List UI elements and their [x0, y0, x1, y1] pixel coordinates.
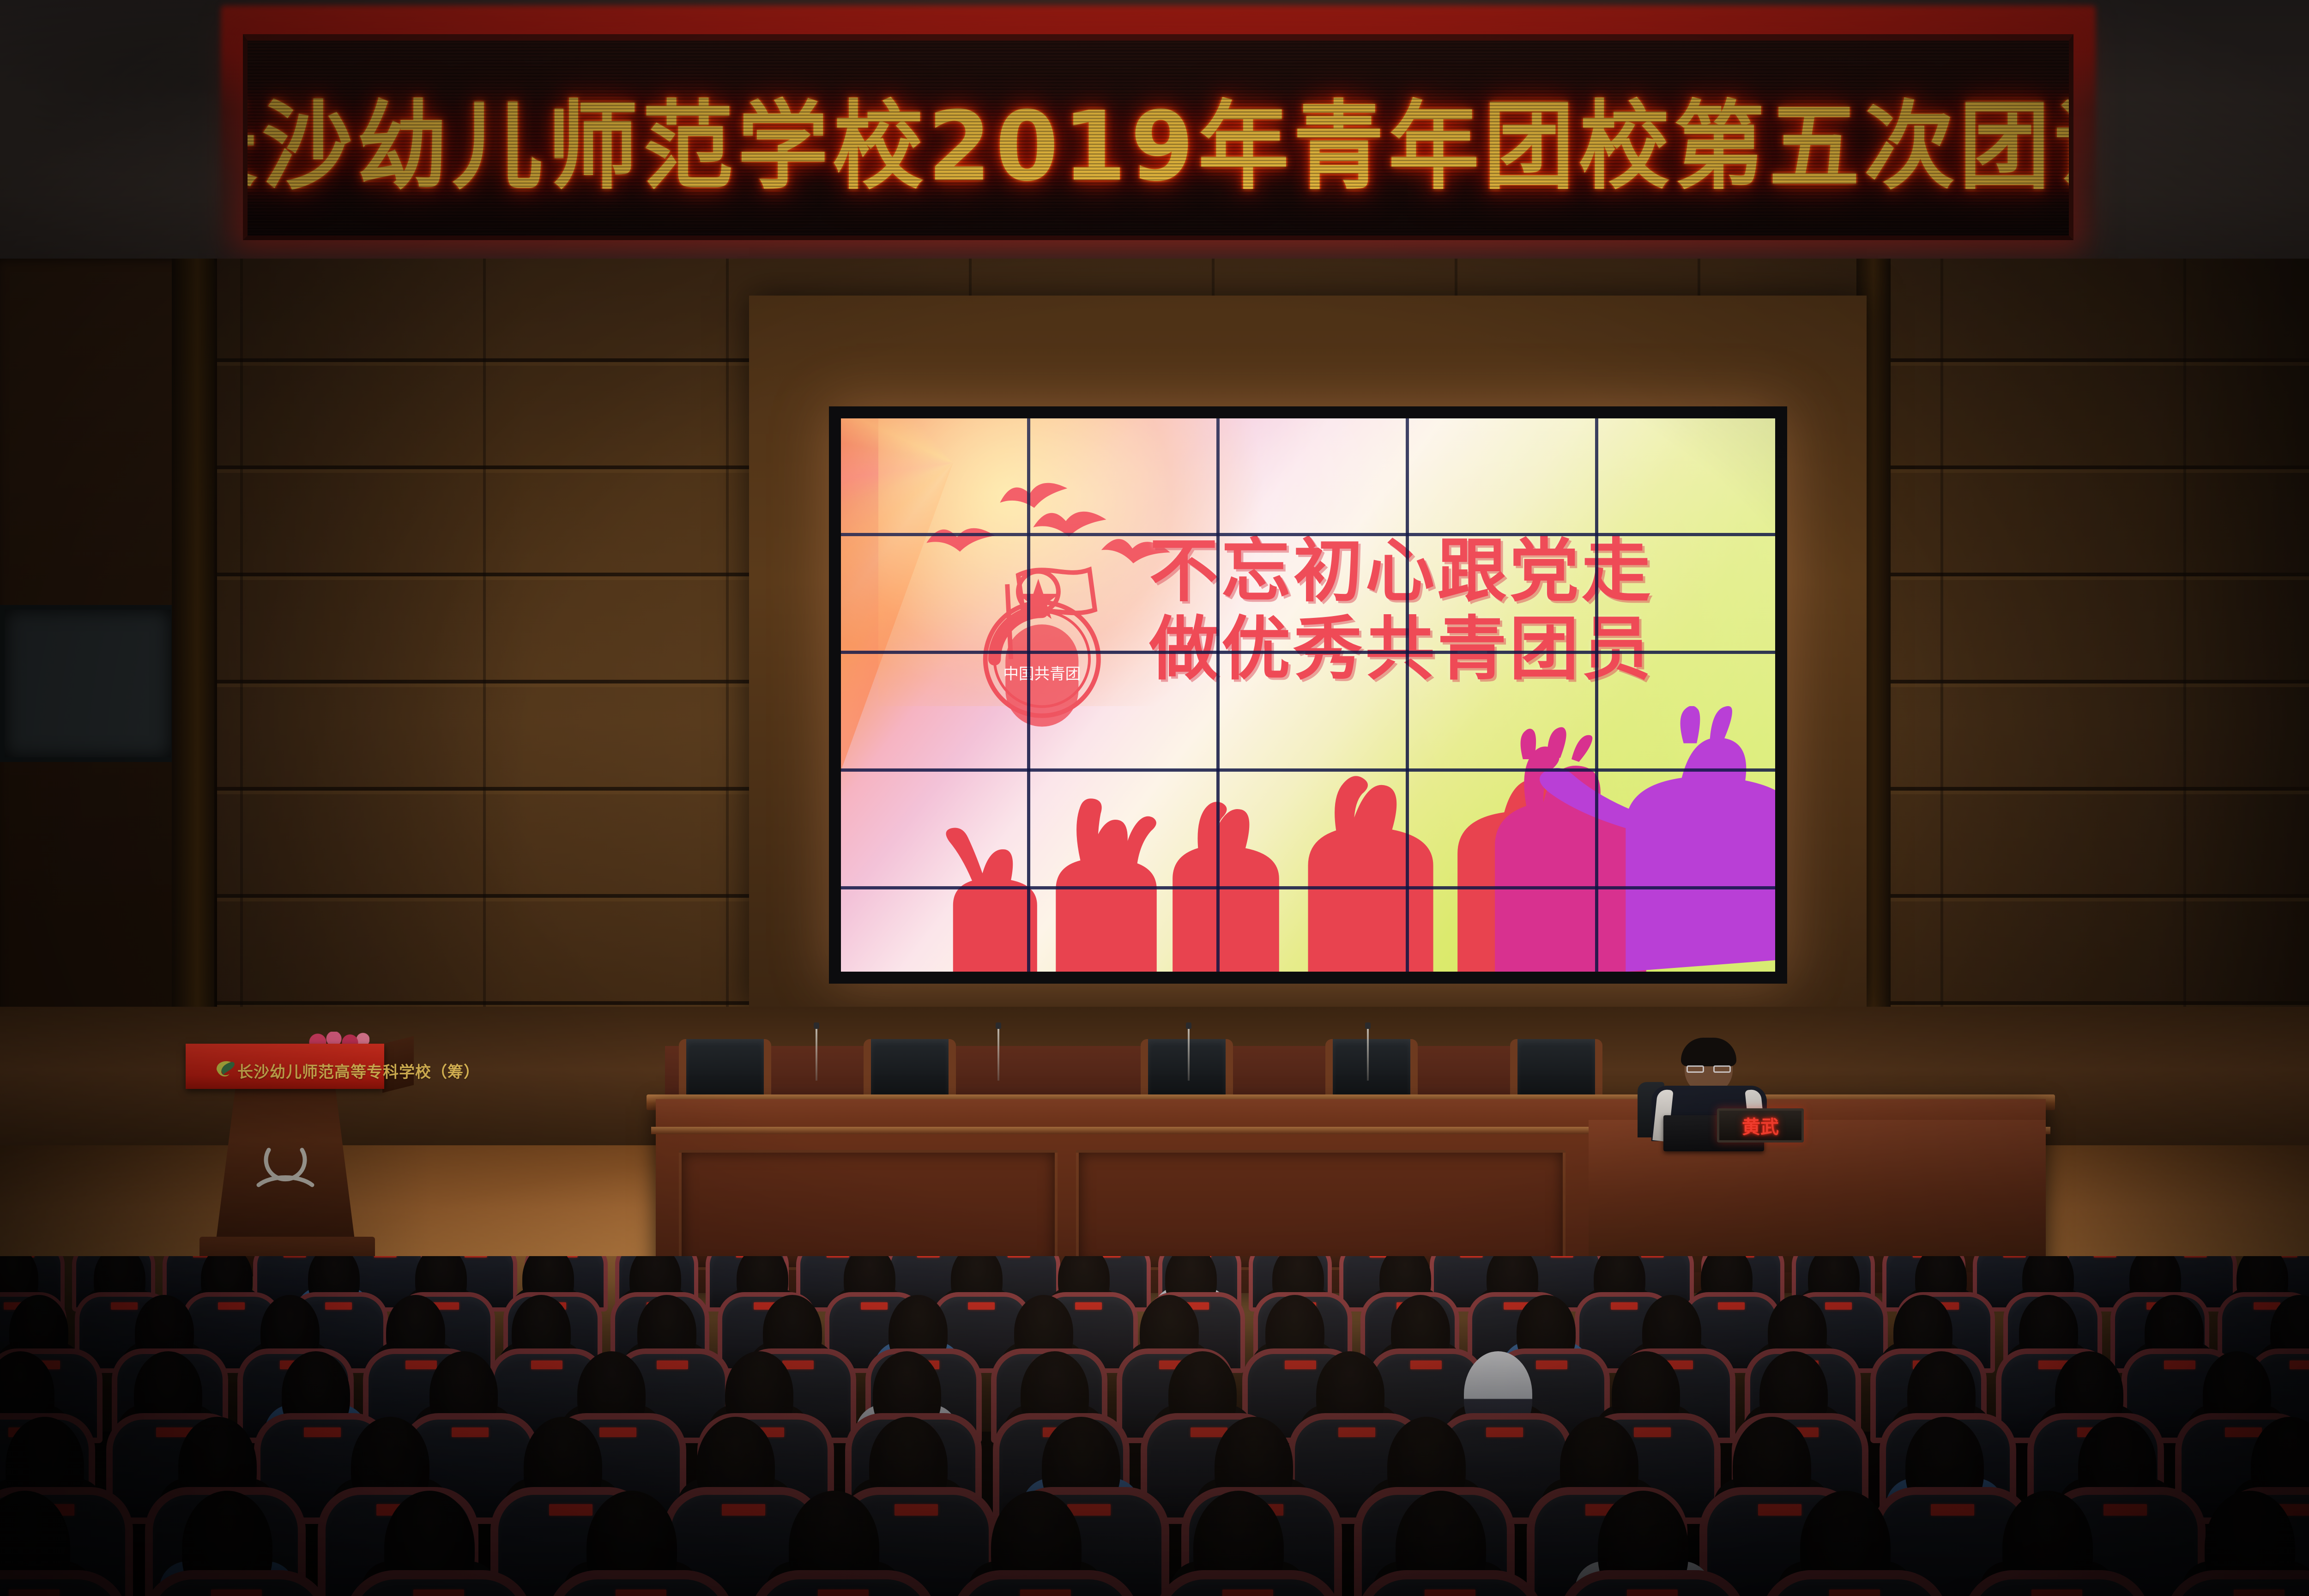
seat-number-plate: [917, 1256, 940, 1257]
microphone-icon: [816, 1025, 817, 1081]
seat-number-plate: [1641, 1256, 1664, 1257]
microphone-icon: [997, 1025, 999, 1081]
video-wall-title: 不忘初心跟党走 做优秀共青团员: [1149, 535, 1729, 686]
seat-number-plate: [1627, 1590, 1678, 1596]
seat-number-plate: [413, 1590, 464, 1596]
seat-number-plate: [782, 1360, 814, 1369]
led-banner-panel: 长沙幼儿师范学校2019年青年团校第五次团课: [248, 41, 2069, 236]
head-table-panel: [1076, 1150, 1566, 1270]
microphone-icon: [1188, 1025, 1190, 1081]
video-wall-title-line-1: 不忘初心跟党走: [1149, 535, 1729, 608]
seat-number-plate: [1634, 1427, 1671, 1438]
audience-seating: [0, 1256, 2309, 1596]
nameplate-text: 黄武: [1742, 1112, 1779, 1139]
school-swoosh-logo: [213, 1056, 237, 1080]
seat-number-plate: [1008, 1256, 1030, 1257]
microphone-icon: [1367, 1025, 1369, 1081]
seat-number-plate: [218, 1302, 245, 1310]
seat-number-plate: [2031, 1590, 2082, 1596]
conference-chair: [1141, 1039, 1233, 1099]
seat-number-plate: [616, 1590, 666, 1596]
led-banner-bezel: 长沙幼儿师范学校2019年青年团校第五次团课: [243, 34, 2073, 240]
seat-number-plate: [2003, 1256, 2026, 1257]
seat-number-plate: [549, 1504, 592, 1516]
seat-number-plate: [1425, 1590, 1475, 1596]
video-wall-display: 中国共青团 不忘初心跟党走 做优秀共青团员: [841, 418, 1775, 972]
conference-chair: [864, 1039, 956, 1099]
seat-number-plate: [111, 1302, 138, 1310]
seat-number-plate: [2234, 1590, 2285, 1596]
cheering-crowd-silhouettes: [841, 706, 1775, 972]
seat-number-plate: [465, 1256, 487, 1257]
svg-text:中国共青团: 中国共青团: [1003, 665, 1081, 683]
seat-number-plate: [211, 1590, 262, 1596]
seat-number-plate: [1718, 1302, 1745, 1310]
conference-chair: [679, 1039, 771, 1099]
seat-number-plate: [895, 1504, 938, 1516]
auditorium-scene: 长沙幼儿师范学校2019年青年团校第五次团课: [0, 0, 2309, 1596]
seat-number-plate: [405, 1360, 437, 1369]
seat-number-plate: [1191, 1427, 1227, 1438]
seat-number-plate: [2290, 1360, 2309, 1369]
seat-number-plate: [325, 1302, 352, 1310]
seat-number-plate: [1410, 1360, 1442, 1369]
head-table-panel: [679, 1150, 1058, 1270]
seat-number-plate: [1611, 1302, 1638, 1310]
seat-number-plate: [1222, 1590, 1273, 1596]
seat-number-plate: [1829, 1590, 1880, 1596]
seat-number-plate: [657, 1360, 688, 1369]
seat-number-plate: [9, 1590, 60, 1596]
conference-chair: [1325, 1039, 1418, 1099]
conference-chair: [1510, 1039, 1602, 1099]
presenter-hair: [1681, 1038, 1736, 1066]
seat-number-plate: [1758, 1504, 1801, 1516]
seat-number-plate: [1020, 1590, 1071, 1596]
nameplate: 黄武: [1717, 1108, 1804, 1143]
seat-number-plate: [2225, 1427, 2262, 1438]
seat-number-plate: [1067, 1504, 1111, 1516]
seat-number-plate: [1825, 1302, 1852, 1310]
seat-number-plate: [1460, 1256, 1483, 1257]
seat-number-plate: [599, 1427, 636, 1438]
seat-number-plate: [1536, 1360, 1567, 1369]
seat-number-plate: [2103, 1504, 2147, 1516]
podium-banner-text: 长沙幼儿师范高等专科学校（筹）: [237, 1059, 480, 1082]
seat-number-plate: [861, 1302, 888, 1310]
seat-number-plate: [374, 1256, 397, 1257]
seat-number-plate: [2184, 1256, 2207, 1257]
seat-number-plate: [1486, 1427, 1523, 1438]
seat-number-plate: [827, 1256, 849, 1257]
seat-number-plate: [304, 1427, 341, 1438]
podium-banner: 长沙幼儿师范高等专科学校（筹）: [186, 1044, 384, 1089]
led-banner: 长沙幼儿师范学校2019年青年团校第五次团课: [221, 6, 2096, 264]
seat-number-plate: [1551, 1256, 1573, 1257]
seat-number-plate: [531, 1360, 562, 1369]
seat-number-plate: [1338, 1427, 1375, 1438]
wall-display-board: [0, 605, 175, 762]
seat-number-plate: [2094, 1256, 2116, 1257]
wall-column-left: [172, 259, 214, 1044]
seat-number-plate: [1075, 1302, 1102, 1310]
seat-number-plate: [722, 1504, 765, 1516]
seat-number-plate: [968, 1302, 995, 1310]
seat-number-plate: [1931, 1504, 1974, 1516]
head-table-right-section: [1589, 1120, 2046, 1272]
seat-number-plate: [1285, 1360, 1316, 1369]
video-wall-bezel: 中国共青团 不忘初心跟党走 做优秀共青团员: [829, 406, 1787, 984]
led-banner-text: 长沙幼儿师范学校2019年青年团校第五次团课: [248, 69, 2069, 207]
seat-number-plate: [818, 1590, 869, 1596]
bird-icon: [1032, 502, 1109, 545]
podium-ring-emblem: [248, 1141, 322, 1196]
seat-number-plate: [2164, 1360, 2195, 1369]
seat-number-plate: [452, 1427, 489, 1438]
glasses-icon: [1686, 1065, 1731, 1073]
video-wall-title-line-2: 做优秀共青团员: [1149, 613, 1729, 686]
head-table-chairs: [679, 1039, 1602, 1104]
seat-number-plate: [284, 1256, 306, 1257]
